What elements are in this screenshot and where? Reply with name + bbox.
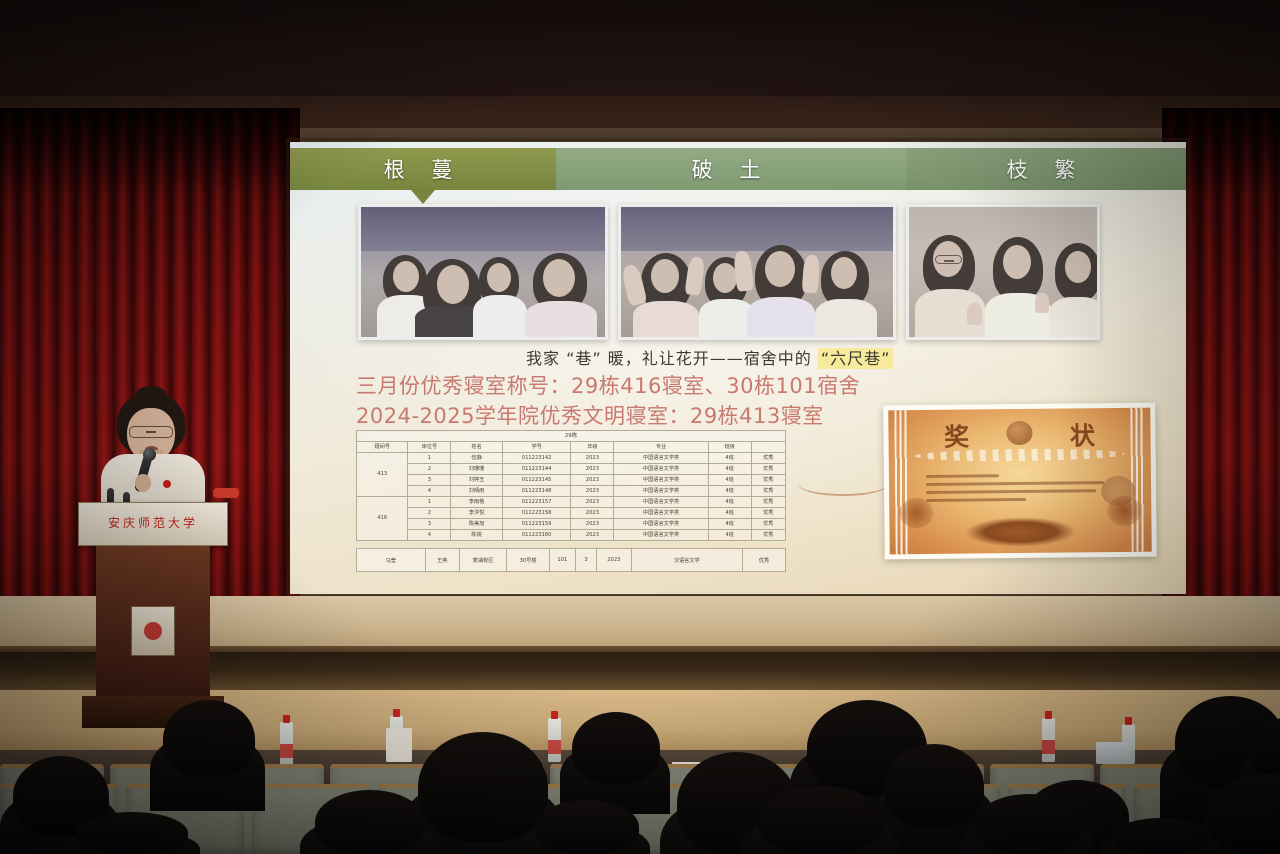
dorm-photo-1 (358, 204, 608, 340)
summary-cell: 101 (550, 549, 576, 572)
table-cell-sid: 011223142 (502, 453, 571, 464)
table-cell-major: 中国语言文学类 (614, 519, 708, 530)
person-body (633, 301, 699, 337)
table-header-row: 寝间号床位号姓名学号年级专业班级 (357, 442, 786, 453)
table-cell-name: 伍静 (451, 453, 502, 464)
certificate-bow-ornament (964, 516, 1076, 547)
person-body (525, 301, 597, 337)
summary-cell: 3 (575, 549, 596, 572)
dorm-shelf (361, 207, 605, 251)
banner-segment-2: 破 土 (556, 148, 906, 190)
audience-head (418, 732, 548, 842)
decorative-wire (798, 472, 888, 496)
banner-segment-1: 根 蔓 (290, 148, 556, 190)
table-cell-bed: 4 (408, 530, 451, 541)
audience-head (315, 790, 425, 854)
table-cell-class: 4班 (708, 519, 751, 530)
summary-cell: 30号楼 (507, 549, 550, 572)
eyeglasses-icon (935, 255, 962, 264)
person-head (713, 263, 737, 293)
table-cell-grade: 2023 (571, 530, 614, 541)
table-cell-class: 4班 (708, 508, 751, 519)
summary-cell: 菱湖校区 (459, 549, 506, 572)
caption-text: 我家 “巷” 暖，礼让花开——宿舍中的 (526, 349, 818, 368)
summary-cell: 汉语言文学 (631, 549, 743, 572)
building-label: 29栋 (357, 431, 786, 442)
table-column-header: 专业 (614, 442, 708, 453)
summary-cell: 2023 (597, 549, 631, 572)
person-head (487, 263, 511, 292)
red-object-on-podium (213, 488, 239, 498)
table-column-header: 床位号 (408, 442, 451, 453)
person-head (393, 261, 419, 292)
table-column-header: 学号 (502, 442, 571, 453)
slide-photo-strip (358, 204, 1126, 334)
table-cell-bed: 4 (408, 486, 451, 497)
table-cell-award: 优秀 (751, 464, 785, 475)
table-cell-name: 刘晴雨 (451, 486, 502, 497)
person-head (1065, 251, 1091, 283)
person-head (651, 259, 679, 293)
table-cell-major: 中国语言文学类 (614, 453, 708, 464)
table-building-row: 29栋 (357, 431, 786, 442)
table-cell-name: 李洪悦 (451, 508, 502, 519)
person-body (1049, 297, 1100, 337)
table-cell-bed: 1 (408, 497, 451, 508)
table-cell-grade: 2023 (571, 486, 614, 497)
table-cell-award: 优秀 (751, 497, 785, 508)
audience-head (572, 712, 660, 784)
bottle-label (280, 744, 293, 758)
podium-university-name: 安庆师范大学 (79, 514, 227, 531)
table-row: 4刘晴雨0112231482023中国语言文学类4班优秀 (357, 486, 786, 497)
table-cell-award: 优秀 (751, 475, 785, 486)
table-cell-name: 刘珊珊 (451, 464, 502, 475)
table-cell-class: 4班 (708, 486, 751, 497)
microphone-head-icon (143, 448, 156, 461)
table-cell-sid: 011223148 (502, 486, 571, 497)
certificate-text-lines (926, 468, 1120, 507)
audience-head (884, 744, 984, 828)
table-cell-major: 中国语言文学类 (614, 475, 708, 486)
table-cell-name: 陈美旭 (451, 519, 502, 530)
table-cell-grade: 2023 (571, 497, 614, 508)
water-bottle (280, 722, 293, 766)
slide-line-1: 三月份优秀寝室称号：29栋416寝室、30栋101宿舍 (356, 370, 860, 400)
podium-top-panel: 安庆师范大学 (78, 502, 228, 546)
speaker-badge (163, 480, 171, 488)
dorm-summary-table: 马莹王英菱湖校区30号楼10132023汉语言文学优秀 (356, 548, 786, 572)
table-cell-sid: 011223159 (502, 519, 571, 530)
table-row: 3刘婷玉0112231452023中国语言文学类4班优秀 (357, 475, 786, 486)
table-cell-sid: 011223158 (502, 508, 571, 519)
summary-cell: 王英 (425, 549, 459, 572)
table-cell-grade: 2023 (571, 453, 614, 464)
person-head (437, 265, 469, 304)
university-crest-icon (131, 606, 175, 656)
table-cell-grade: 2023 (571, 508, 614, 519)
dorm-roster-table: 29栋 寝间号床位号姓名学号年级专业班级 4131伍静0112231422023… (356, 430, 786, 541)
award-certificate-photo: 奖 状 (883, 403, 1157, 560)
table-cell-name: 刘婷玉 (451, 475, 502, 486)
table-cell-class: 4班 (708, 464, 751, 475)
table-cell-award: 优秀 (751, 486, 785, 497)
table-row: 3陈美旭0112231592023中国语言文学类4班优秀 (357, 519, 786, 530)
audience-head (758, 786, 884, 854)
caption-highlight: “六尺巷” (818, 348, 894, 369)
table-cell-award: 优秀 (751, 508, 785, 519)
table-cell-grade: 2023 (571, 475, 614, 486)
dorm-shelf (621, 207, 893, 251)
certificate-inner: 奖 状 (888, 408, 1151, 555)
dorm-photo-3 (906, 204, 1100, 340)
peace-sign-hand (967, 303, 982, 325)
table-cell-sid: 011223145 (502, 475, 571, 486)
table-cell-bed: 3 (408, 475, 451, 486)
person-body (747, 297, 815, 337)
table-cell-award: 优秀 (751, 530, 785, 541)
dorm-photo-2 (618, 204, 896, 340)
audience-head (1113, 818, 1209, 854)
table-cell-sid: 011223144 (502, 464, 571, 475)
audience-head (535, 800, 639, 854)
table-cell-bed: 1 (408, 453, 451, 464)
table-cell-class: 4班 (708, 497, 751, 508)
table-cell-grade: 2023 (571, 519, 614, 530)
table-cell-room: 413 (357, 453, 408, 497)
curtain-shadow-left (0, 108, 300, 198)
podium: 安庆师范大学 (78, 502, 228, 732)
person-body (815, 299, 877, 337)
table-body: 4131伍静0112231422023中国语言文学类4班优秀2刘珊珊011223… (357, 453, 786, 541)
table-cell-major: 中国语言文学类 (614, 530, 708, 541)
table-cell-major: 中国语言文学类 (614, 464, 708, 475)
audience-head (975, 794, 1083, 854)
banner-segment-3: 枝 繁 (906, 148, 1186, 190)
table-cell-major: 中国语言文学类 (614, 486, 708, 497)
table-cell-bed: 2 (408, 508, 451, 519)
table-cell-class: 4班 (708, 530, 751, 541)
person-body (473, 295, 527, 337)
certificate-stripe-left (894, 410, 910, 554)
table-row: 2刘珊珊0112231442023中国语言文学类4班优秀 (357, 464, 786, 475)
table-cell-award: 优秀 (751, 453, 785, 464)
table-row: 马莹王英菱湖校区30号楼10132023汉语言文学优秀 (357, 549, 786, 572)
table-row: 4161李雨格0112231572023中国语言文学类4班优秀 (357, 497, 786, 508)
table-cell-sid: 011223157 (502, 497, 571, 508)
table-cell-sid: 011223160 (502, 530, 571, 541)
laptop (1096, 742, 1130, 764)
table-cell-bed: 2 (408, 464, 451, 475)
table-row: 4陈锐0112231602023中国语言文学类4班优秀 (357, 530, 786, 541)
dorm-table-wrapper: 29栋 寝间号床位号姓名学号年级专业班级 4131伍静0112231422023… (356, 430, 786, 572)
certificate-stripe-right (1130, 408, 1146, 552)
podium-body (96, 546, 210, 696)
table-column-header: 年级 (571, 442, 614, 453)
table-column-header: 寝间号 (357, 442, 408, 453)
table-cell-major: 中国语言文学类 (614, 508, 708, 519)
table-head: 29栋 寝间号床位号姓名学号年级专业班级 (357, 431, 786, 453)
bottle-label (548, 740, 561, 754)
table-row: 2李洪悦0112231582023中国语言文学类4班优秀 (357, 508, 786, 519)
water-bottle (1042, 718, 1055, 762)
eyeglasses-icon (129, 426, 173, 438)
table-cell-award: 优秀 (751, 519, 785, 530)
slide-caption: 我家 “巷” 暖，礼让花开——宿舍中的 “六尺巷” (526, 345, 893, 369)
auditorium-scene: 根 蔓 破 土 枝 繁 (0, 0, 1280, 854)
certificate-corner-ornament (899, 498, 933, 528)
water-bottle (548, 718, 561, 762)
certificate-emblem-icon (1006, 421, 1032, 445)
summary-cell: 马莹 (357, 549, 426, 572)
speaker-hand (135, 474, 151, 492)
tissue-box (386, 728, 412, 762)
table-cell-class: 4班 (708, 475, 751, 486)
slide-line-2: 2024-2025学年院优秀文明寝室：29栋413寝室 (356, 400, 824, 430)
summary-cell: 优秀 (743, 549, 786, 572)
person-head (765, 251, 795, 287)
speaker-person (95, 392, 211, 510)
person-head (831, 257, 857, 289)
peace-sign-hand (1035, 293, 1049, 313)
table-cell-class: 4班 (708, 453, 751, 464)
person-head (1003, 245, 1031, 279)
table-column-header: 姓名 (451, 442, 502, 453)
slide-banner: 根 蔓 破 土 枝 繁 (290, 148, 1186, 190)
table-cell-bed: 3 (408, 519, 451, 530)
audience-head (76, 812, 188, 854)
projection-screen: 根 蔓 破 土 枝 繁 (290, 142, 1186, 594)
table-cell-grade: 2023 (571, 464, 614, 475)
table-column-header: 班级 (708, 442, 751, 453)
table-cell-name: 李雨格 (451, 497, 502, 508)
table-cell-room: 416 (357, 497, 408, 541)
table-cell-name: 陈锐 (451, 530, 502, 541)
bottle-label (1042, 740, 1055, 754)
person-head (543, 259, 575, 297)
table-row: 4131伍静0112231422023中国语言文学类4班优秀 (357, 453, 786, 464)
audience-head (163, 700, 255, 778)
table-column-header (751, 442, 785, 453)
table-cell-major: 中国语言文学类 (614, 497, 708, 508)
greeting-hand (802, 254, 821, 293)
